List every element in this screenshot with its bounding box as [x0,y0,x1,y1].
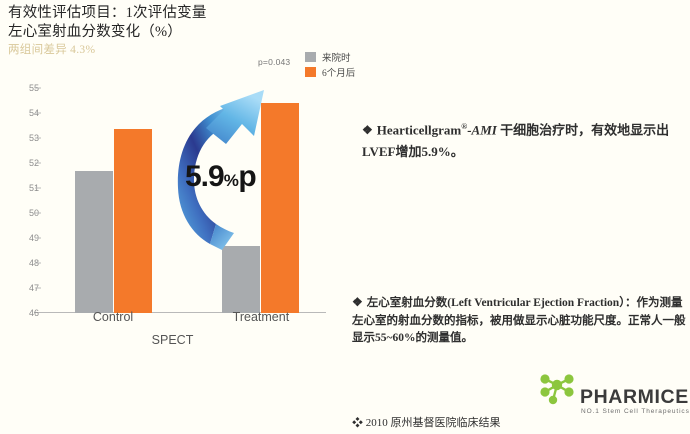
y-axis-tick-mark [35,163,41,164]
arrow-delta-value: 5.9%p [185,162,256,192]
legend-label-baseline: 来院时 [322,50,351,64]
arrow-delta-unit: p [238,160,255,193]
y-axis-tick-mark [35,263,41,264]
legend-label-6months: 6个月后 [322,65,355,79]
y-axis-tick-label: 46 [29,308,42,318]
legend-swatch-orange [305,67,316,77]
legend-swatch-gray [305,52,316,62]
y-axis-tick-mark [35,88,41,89]
bar-control-6months [114,129,152,313]
note-top-brand: Hearticellgram [377,122,461,137]
chart-legend: 来院时 6个月后 [305,50,355,80]
x-axis-label-control: Control [53,310,173,324]
logo-tagline: NO.1 Stem Cell Therapeutics [581,408,690,415]
legend-item-baseline: 来院时 [305,50,355,63]
note-bottom-text: 左心室射血分数(Left Ventricular Ejection Fracti… [352,297,686,344]
page-title: 有效性评估项目：1次评估变量 左心室射血分数变化（%） 两组间差异 4.3% [8,4,338,58]
bullet-icon-top: ❖ [362,123,373,137]
bar-control-baseline [75,171,113,314]
y-axis-tick-mark [35,288,41,289]
y-axis-tick-mark [35,238,41,239]
bullet-icon-bottom: ❖ [352,295,363,309]
y-axis-tick-mark [35,138,41,139]
footer-source: ❖ 2010 原州基督医院临床结果 [352,414,501,430]
note-effect-summary: ❖Hearticellgram®-AMI 干细胞治疗时，有效地显示出LVEF增加… [362,116,684,162]
molecule-icon [536,370,578,408]
note-top-product: -AMI [467,122,497,137]
pharmicell-logo: PHARMICELL NO.1 Stem Cell Therapeutics [536,370,686,418]
y-axis-tick-mark [35,113,41,114]
increase-arrow-callout: 5.9%p [168,84,286,256]
arrow-delta-number: 5.9 [185,160,224,193]
note-lvef-definition: ❖左心室射血分数(Left Ventricular Ejection Fract… [352,294,687,348]
slide-canvas: 有效性评估项目：1次评估变量 左心室射血分数变化（%） 两组间差异 4.3% p… [0,0,690,434]
title-line-1: 有效性评估项目：1次评估变量 [8,4,338,23]
title-subtitle: 两组间差异 4.3% [8,42,338,58]
y-axis-tick-mark [35,188,41,189]
logo-wordmark: PHARMICELL [580,388,690,408]
arrow-delta-percent: % [224,171,239,190]
x-axis-label-treatment: Treatment [201,310,321,324]
x-axis-title: SPECT [0,333,345,347]
y-axis-tick-mark [35,213,41,214]
title-line-2: 左心室射血分数变化（%） [8,23,338,42]
legend-item-6months: 6个月后 [305,65,355,78]
p-value-label: p=0.043 [258,57,290,67]
